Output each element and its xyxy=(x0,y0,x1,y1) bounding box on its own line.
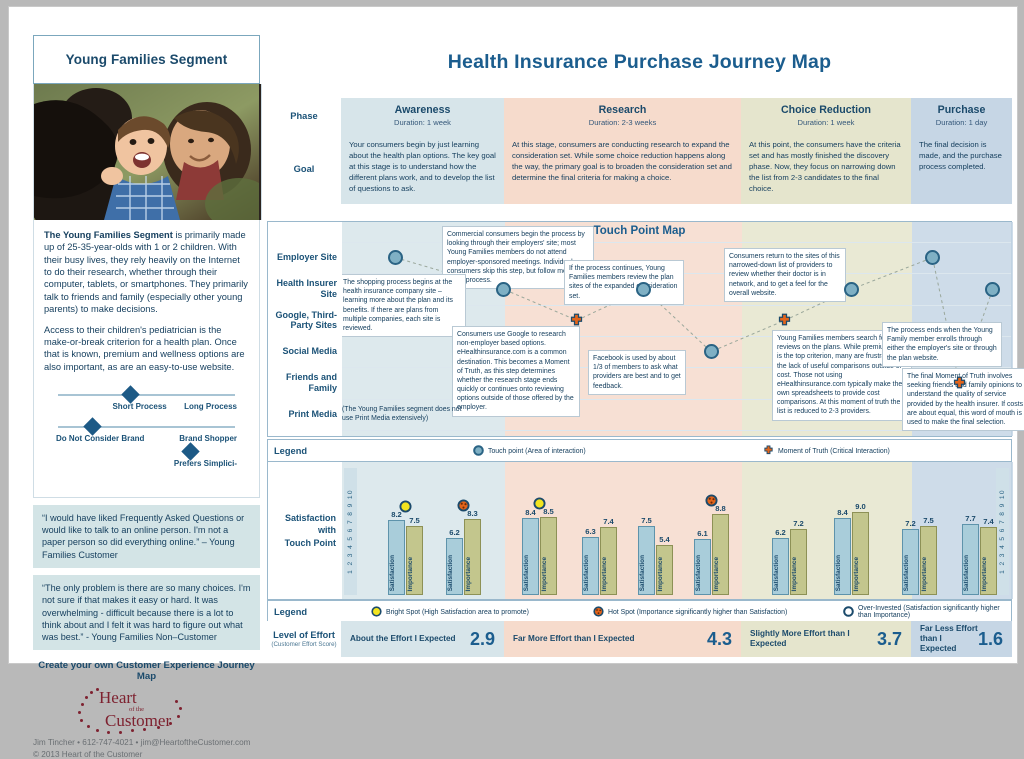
effort-cell-research: Far More Effort than I Expected 4.3 xyxy=(504,621,741,657)
customer-quote-1: “I would have liked Frequently Asked Que… xyxy=(33,505,260,568)
touchpoint-node[interactable] xyxy=(985,282,1000,297)
bar-series-label: Satisfaction xyxy=(639,555,654,591)
channel-label-1: Employer Site xyxy=(268,242,342,273)
bright-spot-icon xyxy=(371,606,382,619)
journey-main: Health Insurance Purchase Journey Map Ph… xyxy=(267,35,1012,655)
effort-row-label: Level of Effort (Customer Effort Score) xyxy=(267,621,341,657)
touch-point-map: Touch Point Map Commercial consumers beg… xyxy=(267,221,1012,437)
satisfaction-bar: Satisfaction xyxy=(962,524,979,595)
touchpoint-node[interactable] xyxy=(704,344,719,359)
journey-map-page: Young Families Segment xyxy=(8,6,1018,664)
customer-quote-2: “The only problem is there are so many c… xyxy=(33,575,260,650)
importance-bar: Importance xyxy=(790,529,807,595)
legend-item-over-invested: Over-Invested (Satisfaction significantl… xyxy=(843,601,1011,623)
effort-cell-choice-reduction: Slightly More Effort than I Expected 3.7 xyxy=(741,621,911,657)
slider-knob[interactable] xyxy=(83,417,101,435)
importance-bar: Importance xyxy=(980,527,997,595)
bar-value-label: 7.5 xyxy=(918,516,939,525)
slider-label-right: Long Process xyxy=(184,402,237,413)
satisfaction-bar: Satisfaction xyxy=(446,538,463,595)
legend-text: Moment of Truth (Critical Interaction) xyxy=(778,448,890,455)
goal-row: Goal Your consumers begin by just learni… xyxy=(267,133,1012,204)
hot-spot-icon xyxy=(593,606,604,619)
phase-name: Purchase xyxy=(938,104,986,116)
effort-text: Slightly More Effort than I Expected xyxy=(750,629,877,650)
effort-score: 2.9 xyxy=(470,629,495,650)
phase-cell-research[interactable]: Research Duration: 2-3 weeks xyxy=(504,98,741,133)
channel-label-5: Friends and Family xyxy=(268,367,342,398)
moment-of-truth-node[interactable] xyxy=(569,313,584,328)
legend-text: Touch point (Area of interaction) xyxy=(488,448,586,455)
satisfaction-bar: Satisfaction xyxy=(582,537,599,595)
touchpoint-callout-3: Consumers use Google to research non-emp… xyxy=(452,326,580,417)
bright-spot-icon xyxy=(399,500,412,513)
goal-row-label: Goal xyxy=(267,133,341,204)
channel-label-3: Google, Third-Party Sites xyxy=(268,305,342,336)
bar-series-label: Importance xyxy=(657,557,672,591)
logo-word-heart: Heart xyxy=(99,688,137,708)
channel-label-column: Employer SiteHealth Insurer SiteGoogle, … xyxy=(268,222,342,436)
goal-cell-choice-reduction: At this point, the consumers have the cr… xyxy=(741,133,911,204)
bar-series-label: Importance xyxy=(407,557,422,591)
hot-spot-icon xyxy=(705,494,718,507)
goal-cell-purchase: The final decision is made, and the purc… xyxy=(911,133,1012,204)
persona-title: Young Families Segment xyxy=(33,35,260,84)
phase-duration: Duration: 1 week xyxy=(798,118,855,127)
legend-label: Legend xyxy=(268,440,342,462)
slider-label-left: Do Not Consider Brand xyxy=(56,434,144,445)
bar-value-label: 7.2 xyxy=(788,519,809,528)
touchpoint-callout-8: The process ends when the Young Family m… xyxy=(882,322,1002,367)
phase-cell-awareness[interactable]: Awareness Duration: 1 week xyxy=(341,98,504,133)
phase-row: Phase Awareness Duration: 1 week Researc… xyxy=(267,98,1012,133)
chart-plot-area: 1 2 3 4 5 6 7 8 9 101 2 3 4 5 6 7 8 9 10… xyxy=(342,462,1011,599)
over-invested-icon xyxy=(843,606,854,619)
phase-duration: Duration: 1 week xyxy=(394,118,451,127)
bar-value-label: 7.5 xyxy=(636,516,657,525)
bar-series-label: Importance xyxy=(791,557,806,591)
family-photo-illustration xyxy=(34,84,259,220)
bar-series-label: Satisfaction xyxy=(695,555,710,591)
bar-value-label: 6.2 xyxy=(770,528,791,537)
satisfaction-bar: Satisfaction xyxy=(902,529,919,595)
bar-series-label: Satisfaction xyxy=(773,555,788,591)
bar-series-label: Satisfaction xyxy=(583,555,598,591)
phase-duration: Duration: 1 day xyxy=(936,118,988,127)
contact-line: Jim Tincher • 612-747-4021 • jim@Heartof… xyxy=(33,738,260,747)
persona-panel: Young Families Segment xyxy=(33,35,260,580)
page-title: Health Insurance Purchase Journey Map xyxy=(267,35,1012,74)
touchpoint-callout-2: The shopping process begins at the healt… xyxy=(338,274,466,337)
satisfaction-chart-label: Satisfaction with Touch Point xyxy=(268,462,342,599)
bar-value-label: 7.5 xyxy=(404,516,425,525)
channel-label-2: Health Insurer Site xyxy=(268,273,342,304)
effort-score: 4.3 xyxy=(707,629,732,650)
bar-value-label: 9.0 xyxy=(850,502,871,511)
bar-series-label: Satisfaction xyxy=(389,555,404,591)
persona-paragraph-1: The Young Families Segment is primarily … xyxy=(44,229,249,316)
phase-name: Awareness xyxy=(395,104,451,116)
importance-bar: Importance xyxy=(540,517,557,595)
heart-of-the-customer-logo: Heart of the Customer xyxy=(33,684,260,736)
chart-phase-band-3 xyxy=(742,462,912,599)
effort-cell-purchase: Far Less Effort than I Expected 1.6 xyxy=(911,621,1012,657)
touchpoint-node[interactable] xyxy=(636,282,651,297)
legend-text: Hot Spot (Importance significantly highe… xyxy=(608,609,787,616)
slider-simplicity[interactable]: Prefers Simplici- xyxy=(52,451,241,481)
bar-series-label: Satisfaction xyxy=(903,555,918,591)
y-axis-scale: 1 2 3 4 5 6 7 8 9 10 xyxy=(344,468,357,595)
persona-description: The Young Families Segment is primarily … xyxy=(33,220,260,498)
bar-value-label: 5.4 xyxy=(654,535,675,544)
satisfaction-bar: Satisfaction xyxy=(694,539,711,595)
effort-text: Far More Effort than I Expected xyxy=(513,634,634,644)
satisfaction-bar: Satisfaction xyxy=(638,526,655,595)
bar-series-label: Importance xyxy=(541,557,556,591)
bar-value-label: 6.3 xyxy=(580,527,601,536)
legend-item-moment-of-truth: Moment of Truth (Critical Interaction) xyxy=(763,440,890,462)
bar-value-label: 6.2 xyxy=(444,528,465,537)
phase-name: Research xyxy=(599,104,647,116)
importance-bar: Importance xyxy=(852,512,869,595)
bar-series-label: Importance xyxy=(713,557,728,591)
goal-cell-awareness: Your consumers begin by just learning ab… xyxy=(341,133,504,204)
bar-series-label: Satisfaction xyxy=(447,555,462,591)
bar-series-label: Satisfaction xyxy=(523,555,538,591)
touch-point-map-title: Touch Point Map xyxy=(268,225,1011,237)
satisfaction-bar: Satisfaction xyxy=(772,538,789,595)
moment-of-truth-node[interactable] xyxy=(952,376,967,391)
satisfaction-bar: Satisfaction xyxy=(834,518,851,595)
slider-brand-consideration[interactable]: Do Not Consider Brand Brand Shopper xyxy=(52,419,241,449)
importance-bar: Importance xyxy=(600,527,617,595)
bar-series-label: Importance xyxy=(853,557,868,591)
persona-paragraph-2: Access to their children's pediatrician … xyxy=(44,324,249,373)
slider-knob[interactable] xyxy=(121,385,139,403)
phase-name: Choice Reduction xyxy=(781,104,871,116)
importance-bar: Importance xyxy=(406,526,423,595)
bar-value-label: 6.1 xyxy=(692,529,713,538)
effort-score: 3.7 xyxy=(877,629,902,650)
goal-cell-research: At this stage, consumers are conducting … xyxy=(504,133,741,204)
satisfaction-chart: Satisfaction with Touch Point 1 2 3 4 5 … xyxy=(267,461,1012,600)
importance-bar: Importance xyxy=(920,526,937,595)
effort-cell-awareness: About the Effort I Expected 2.9 xyxy=(341,621,504,657)
effort-text: About the Effort I Expected xyxy=(350,634,456,644)
slider-process-length[interactable]: Short Process Long Process xyxy=(52,387,241,417)
slider-track xyxy=(58,394,235,396)
importance-bar: Importance xyxy=(464,519,481,595)
slider-label-right: Prefers Simplici- xyxy=(174,459,237,470)
phase-duration: Duration: 2-3 weeks xyxy=(589,118,657,127)
effort-row: Level of Effort (Customer Effort Score) … xyxy=(267,621,1012,657)
slider-label-left: Short Process xyxy=(112,402,166,413)
effort-score: 1.6 xyxy=(978,629,1003,650)
touchpoint-callout-5: Facebook is used by about 1/3 of members… xyxy=(588,350,686,395)
legend-text: Over-Invested (Satisfaction significantl… xyxy=(858,605,1011,619)
bar-series-label: Importance xyxy=(981,557,996,591)
touchpoint-callout-6: Consumers return to the sites of this na… xyxy=(724,248,846,302)
persona-lead: The Young Families Segment xyxy=(44,230,173,240)
touchpoint-callout-4: If the process continues, Young Families… xyxy=(564,260,684,305)
satisfaction-bar: Satisfaction xyxy=(388,520,405,595)
moment-of-truth-node[interactable] xyxy=(777,313,792,328)
touchpoint-node[interactable] xyxy=(496,282,511,297)
persona-photo xyxy=(33,84,262,220)
phase-cell-choice-reduction[interactable]: Choice Reduction Duration: 1 week xyxy=(741,98,911,133)
legend-label: Legend xyxy=(268,601,342,623)
bar-series-label: Satisfaction xyxy=(963,555,978,591)
channel-label-4: Social Media xyxy=(268,336,342,367)
moment-of-truth-icon xyxy=(763,445,774,458)
logo-word-customer: Customer xyxy=(105,711,171,731)
hot-spot-icon xyxy=(457,499,470,512)
bar-series-label: Importance xyxy=(465,557,480,591)
effort-text: Far Less Effort than I Expected xyxy=(920,624,978,655)
legend-item-bright-spot: Bright Spot (High Satisfaction area to p… xyxy=(371,601,529,623)
legend-item-touchpoint: Touch point (Area of interaction) xyxy=(473,440,586,462)
touch-point-legend: Legend Touch point (Area of interaction)… xyxy=(267,439,1012,463)
bar-series-label: Importance xyxy=(601,557,616,591)
cta-text: Create your own Customer Experience Jour… xyxy=(33,660,260,682)
legend-text: Bright Spot (High Satisfaction area to p… xyxy=(386,609,529,616)
bright-spot-icon xyxy=(533,497,546,510)
bar-value-label: 7.4 xyxy=(978,517,999,526)
satisfaction-bar: Satisfaction xyxy=(522,518,539,595)
bar-series-label: Satisfaction xyxy=(835,555,850,591)
touchpoint-node[interactable] xyxy=(844,282,859,297)
importance-bar: Importance xyxy=(712,514,729,595)
importance-bar: Importance xyxy=(656,545,673,595)
y-axis-scale: 1 2 3 4 5 6 7 8 9 10 xyxy=(996,468,1009,595)
bar-value-label: 7.4 xyxy=(598,517,619,526)
phase-row-label: Phase xyxy=(267,98,341,133)
persona-attribute-sliders: Short Process Long Process Do Not Consid… xyxy=(44,381,249,491)
phase-cell-purchase[interactable]: Purchase Duration: 1 day xyxy=(911,98,1012,133)
touchpoint-callout-10: (The Young Families segment does not use… xyxy=(338,402,466,426)
touchpoint-icon xyxy=(473,445,484,458)
channel-label-6: Print Media xyxy=(268,399,342,430)
bar-series-label: Importance xyxy=(921,557,936,591)
legend-item-hot-spot: Hot Spot (Importance significantly highe… xyxy=(593,601,787,623)
touch-point-canvas: Commercial consumers begin the process b… xyxy=(342,222,1011,436)
copyright-line: © 2013 Heart of the Customer xyxy=(33,750,260,759)
